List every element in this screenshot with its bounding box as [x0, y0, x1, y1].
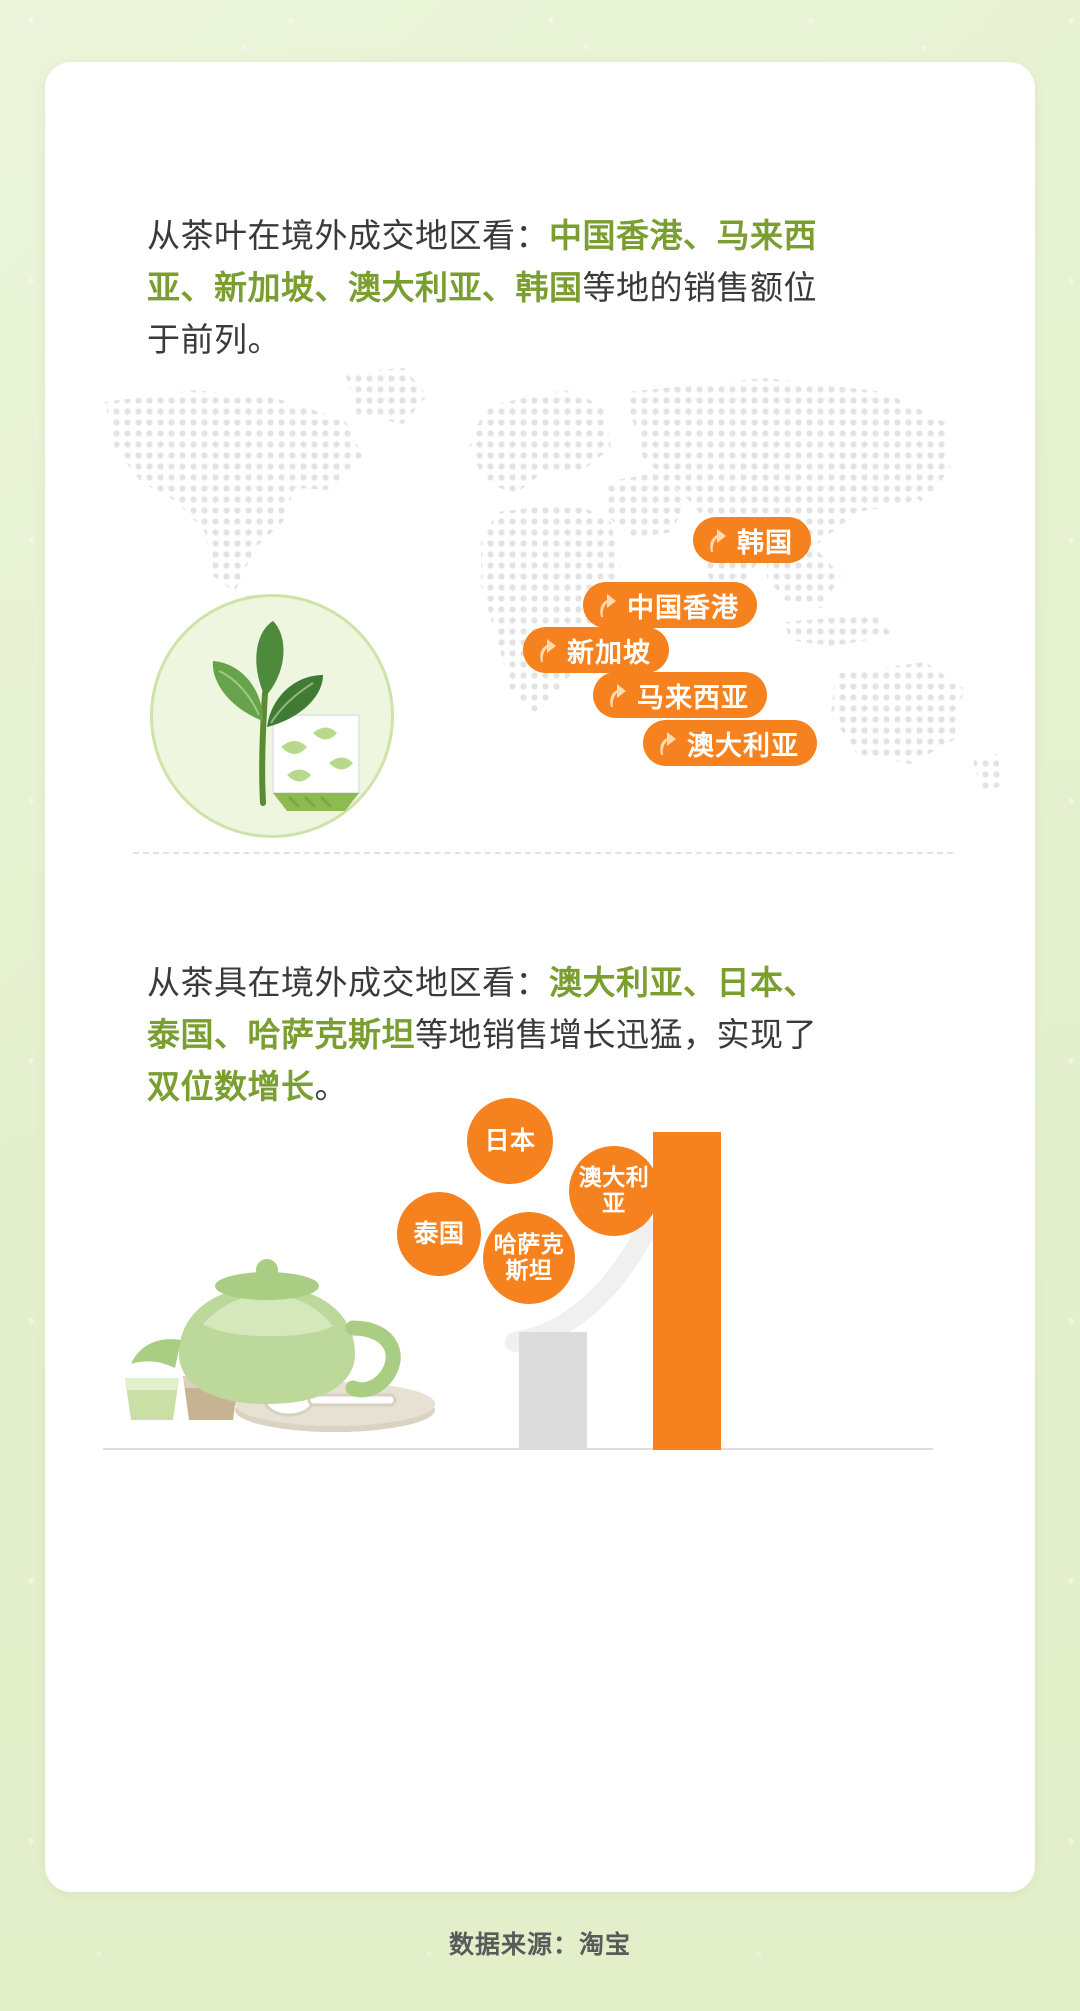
map-tag-korea[interactable]: 韩国: [693, 517, 811, 563]
trend-up-arrow-icon: [596, 592, 618, 618]
bubble-kazakhstan[interactable]: 哈萨克斯坦: [483, 1212, 575, 1304]
data-source-footer: 数据来源：淘宝: [0, 1925, 1080, 1961]
bubble-label: 哈萨克斯坦: [483, 1232, 575, 1284]
tea-leaf-and-teabag-icon: [153, 597, 391, 835]
teapot-and-cups-icon: [117, 1228, 437, 1448]
bubble-australia[interactable]: 澳大利亚: [569, 1146, 659, 1236]
map-tag-label: 马来西亚: [637, 676, 749, 715]
bar-growth: [653, 1132, 721, 1450]
tea-ware-paragraph-lead: 从茶具在境外成交地区看：: [147, 964, 549, 1001]
infographic-card: 从茶叶在境外成交地区看：中国香港、马来西亚、新加坡、澳大利亚、韩国等地的销售额位…: [45, 62, 1035, 1892]
chart-baseline-axis: [103, 1448, 933, 1450]
trend-up-arrow-icon: [536, 637, 558, 663]
bubble-japan[interactable]: 日本: [467, 1098, 553, 1184]
bubble-thailand[interactable]: 泰国: [397, 1192, 481, 1276]
tea-leaf-illustration: [150, 594, 394, 838]
bubble-label: 泰国: [413, 1220, 464, 1248]
tea-ware-paragraph-middle: 等地销售增长迅猛，实现了: [415, 1016, 817, 1053]
world-map-panel: 韩国 中国香港 新加坡 马来西亚 澳大利亚: [45, 362, 1035, 822]
trend-up-arrow-icon: [656, 730, 678, 756]
tea-ware-chart-panel: 日本 澳大利亚 泰国 哈萨克斯坦: [45, 1082, 1035, 1502]
map-tag-singapore[interactable]: 新加坡: [523, 627, 669, 673]
map-tag-label: 澳大利亚: [687, 724, 799, 763]
bar-base: [519, 1332, 587, 1450]
map-tag-australia[interactable]: 澳大利亚: [643, 720, 817, 766]
tea-leaf-paragraph: 从茶叶在境外成交地区看：中国香港、马来西亚、新加坡、澳大利亚、韩国等地的销售额位…: [147, 210, 827, 366]
map-tag-label: 韩国: [737, 521, 793, 560]
bubble-label: 日本: [484, 1127, 535, 1155]
bubble-label: 澳大利亚: [569, 1165, 659, 1217]
trend-up-arrow-icon: [706, 527, 728, 553]
map-tag-label: 中国香港: [627, 586, 739, 625]
trend-up-arrow-icon: [606, 682, 628, 708]
map-tag-malaysia[interactable]: 马来西亚: [593, 672, 767, 718]
tea-leaf-paragraph-lead: 从茶叶在境外成交地区看：: [147, 217, 549, 254]
map-tag-hong-kong[interactable]: 中国香港: [583, 582, 757, 628]
section-divider: [133, 852, 953, 854]
map-tag-label: 新加坡: [567, 631, 651, 670]
